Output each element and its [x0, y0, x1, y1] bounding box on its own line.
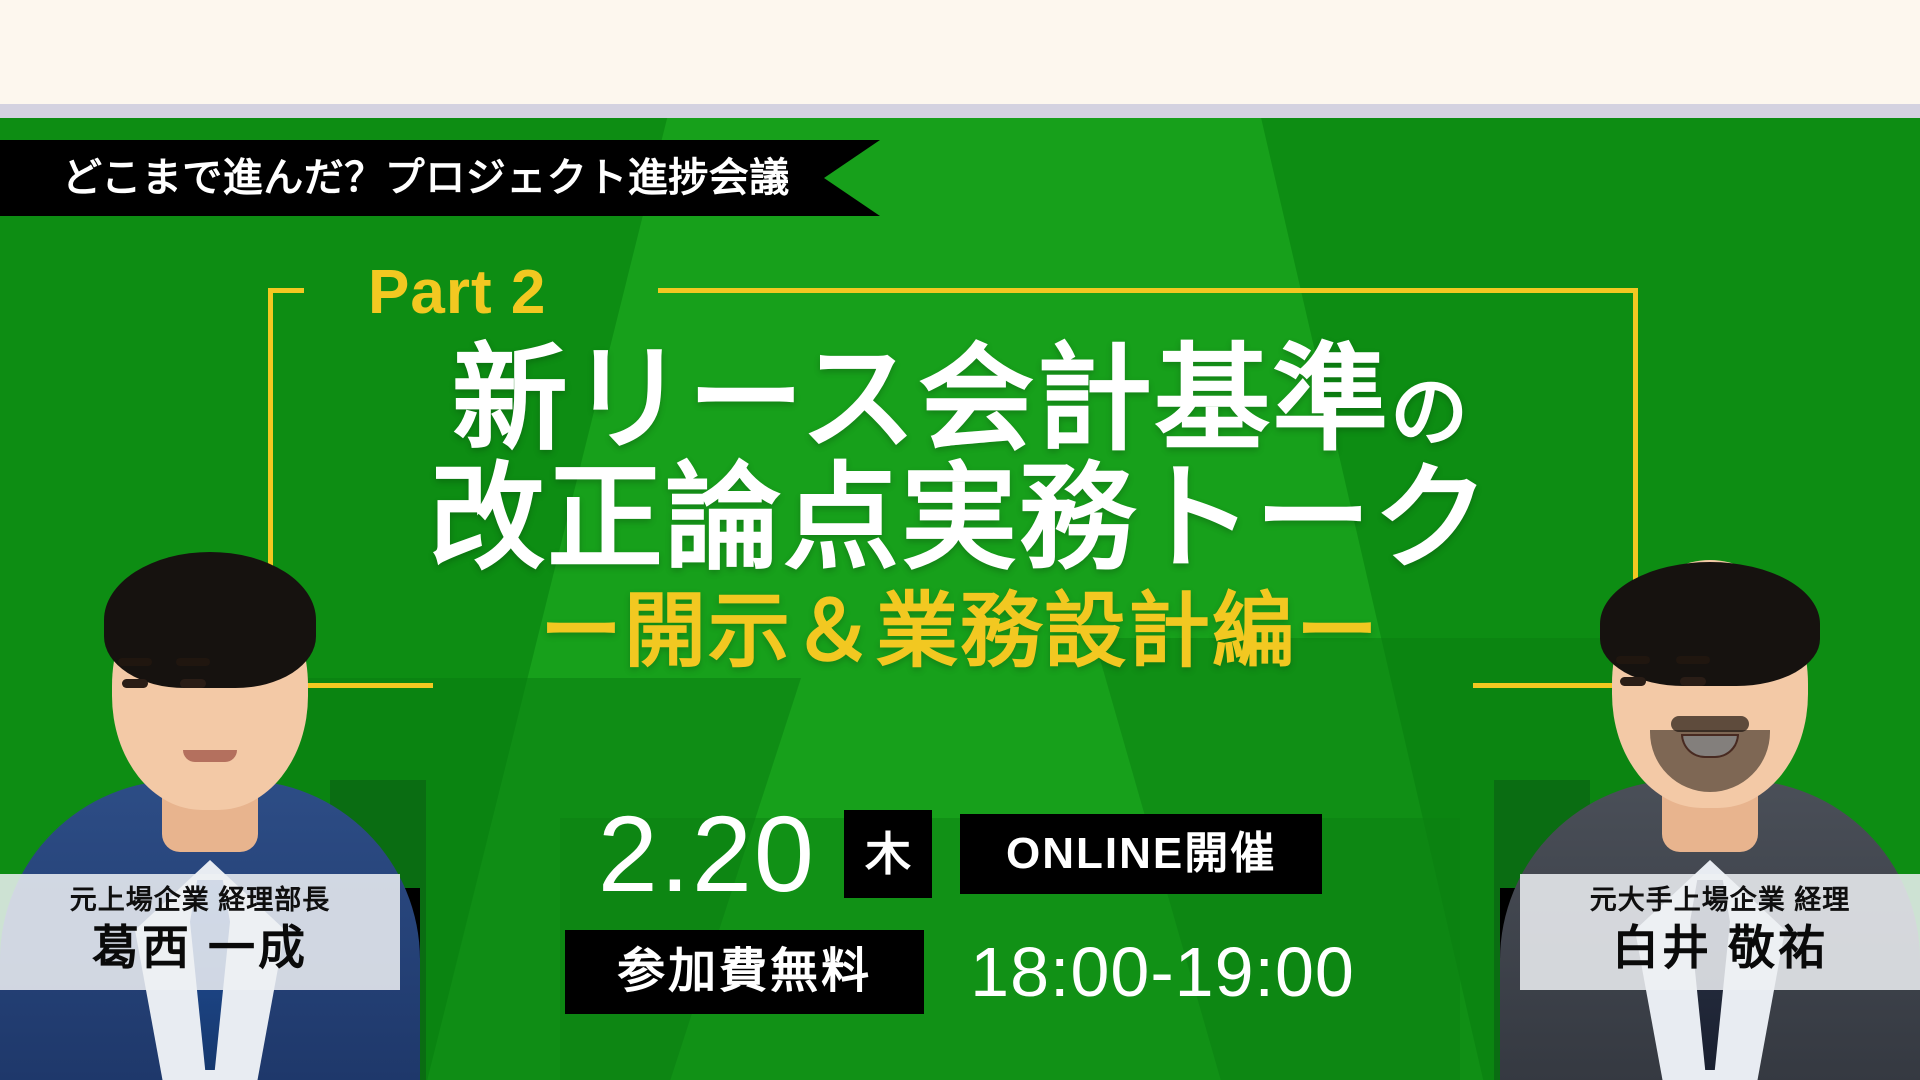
speaker-eye [122, 679, 148, 688]
title-line-2: 改正論点実務トーク [0, 459, 1920, 578]
title-block: 新リース会計基準の 改正論点実務トーク ー開示＆業務設計編ー [0, 340, 1920, 675]
header-divider [0, 104, 1920, 118]
title-line-1-suffix: の [1390, 368, 1468, 456]
speaker-eye [1620, 677, 1646, 686]
webinar-poster: cpa learning どこまで進んだ？プロジェクト進捗会議 Part 2 新… [0, 0, 1920, 1080]
speaker-eye [180, 679, 206, 688]
series-ribbon: どこまで進んだ？プロジェクト進捗会議 [0, 140, 880, 216]
title-subtitle: ー開示＆業務設計編ー [0, 589, 1920, 675]
speaker-mouth [183, 750, 237, 762]
series-ribbon-label: どこまで進んだ？プロジェクト進捗会議 [62, 158, 790, 198]
frame-line-top-right [658, 288, 1638, 293]
event-info-row-primary: 2.20 木 ONLINE開催 [0, 800, 1920, 908]
event-time: 18:00-19:00 [970, 937, 1355, 1007]
title-line-1: 新リース会計基準の [0, 340, 1920, 459]
speaker-eye [1680, 677, 1706, 686]
event-weekday-badge: 木 [844, 810, 932, 898]
event-format-badge: ONLINE開催 [960, 814, 1322, 894]
part-label: Part 2 [368, 262, 546, 324]
header-bar [0, 0, 1920, 104]
event-info-row-secondary: 参加費無料 18:00-19:00 [0, 930, 1920, 1014]
series-ribbon-body: どこまで進んだ？プロジェクト進捗会議 [0, 140, 824, 216]
title-line-1-main: 新リース会計基準 [452, 334, 1390, 464]
frame-line-top-left [268, 288, 304, 293]
event-price-badge: 参加費無料 [565, 930, 924, 1014]
series-ribbon-tail [824, 140, 880, 216]
event-date: 2.20 [598, 800, 816, 908]
